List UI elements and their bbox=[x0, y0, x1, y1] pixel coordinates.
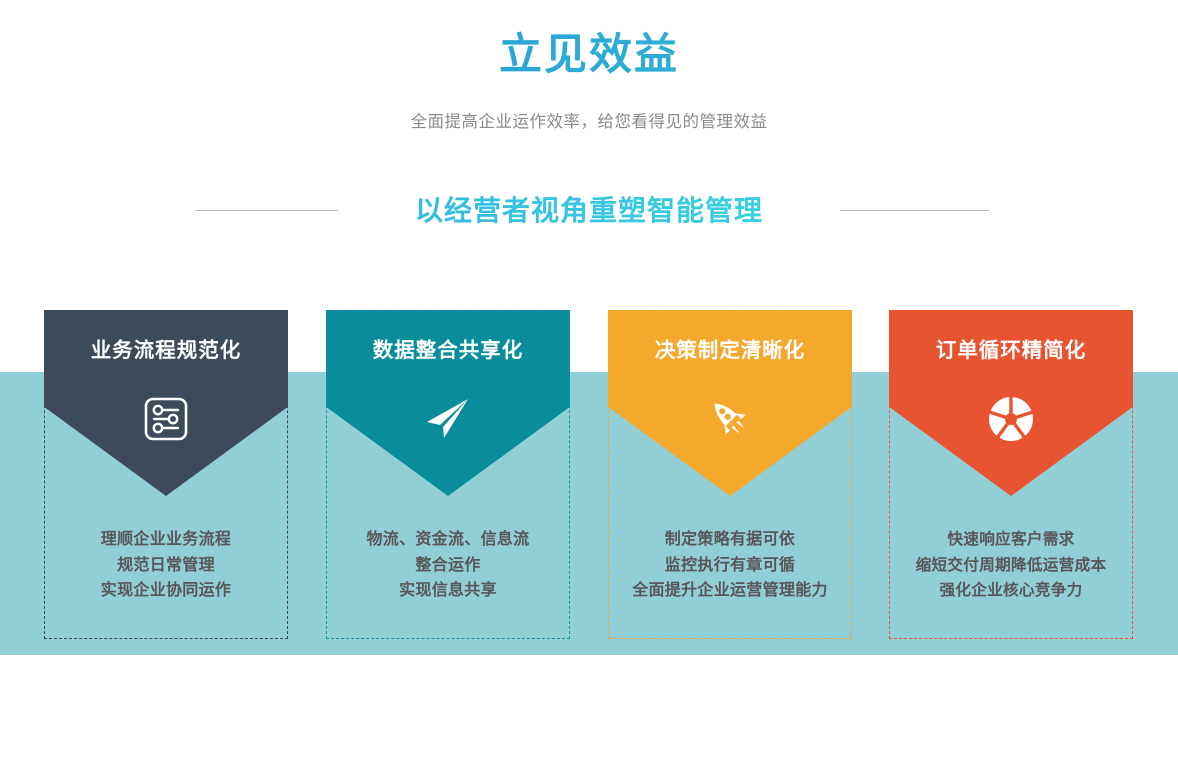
page-subtitle: 全面提高企业运作效率，给您看得见的管理效益 bbox=[0, 109, 1178, 135]
section-heading: 以经营者视角重塑智能管理 bbox=[0, 188, 1178, 234]
feature-card-decision-making[interactable]: 决策制定清晰化 制定策略有据可依 监控执行有章可循 全面提升企业运营管理能力 bbox=[608, 310, 852, 639]
card-title: 决策制定清晰化 bbox=[608, 336, 852, 366]
page-title: 立见效益 bbox=[0, 26, 1178, 84]
card-description: 理顺企业业务流程 规范日常管理 实现企业协同运作 bbox=[44, 527, 288, 604]
sliders-icon bbox=[139, 392, 193, 446]
card-title: 订单循环精简化 bbox=[889, 336, 1133, 366]
promo-page: 立见效益 全面提高企业运作效率，给您看得见的管理效益 以经营者视角重塑智能管理 … bbox=[0, 0, 1178, 771]
rocket-icon bbox=[703, 392, 757, 446]
aperture-icon bbox=[984, 392, 1038, 446]
card-title: 数据整合共享化 bbox=[326, 336, 570, 366]
card-description: 物流、资金流、信息流 整合运作 实现信息共享 bbox=[326, 527, 570, 604]
paper-plane-icon bbox=[421, 392, 475, 446]
card-description: 快速响应客户需求 缩短交付周期降低运营成本 强化企业核心竞争力 bbox=[889, 527, 1133, 604]
section-heading-group: 以经营者视角重塑智能管理 bbox=[0, 188, 1178, 234]
card-description: 制定策略有据可依 监控执行有章可循 全面提升企业运营管理能力 bbox=[608, 527, 852, 604]
divider-line-right bbox=[840, 210, 989, 211]
feature-card-list: 业务流程规范化 理顺企业业务流程 规范日常管理 实现企业协同运作 数据整合共享化 bbox=[0, 310, 1178, 640]
feature-card-order-cycle[interactable]: 订单循环精简化 bbox=[889, 310, 1133, 639]
feature-card-business-process[interactable]: 业务流程规范化 理顺企业业务流程 规范日常管理 实现企业协同运作 bbox=[44, 310, 288, 639]
feature-card-data-integration[interactable]: 数据整合共享化 物流、资金流、信息流 整合运作 实现信息共享 bbox=[326, 310, 570, 639]
card-title: 业务流程规范化 bbox=[44, 336, 288, 366]
